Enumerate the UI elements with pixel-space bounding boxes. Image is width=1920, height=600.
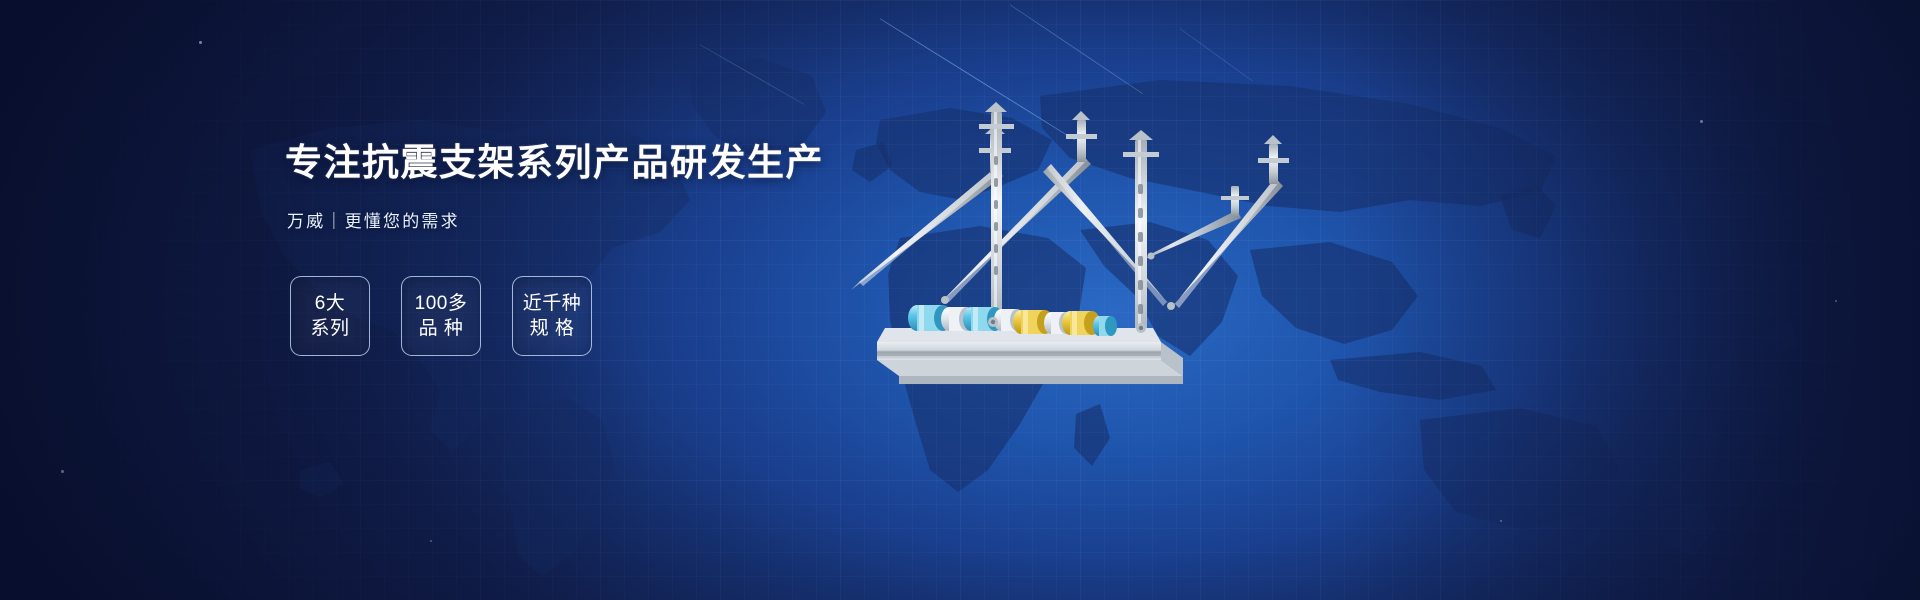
badge-line2: 品 种 xyxy=(419,316,464,341)
banner-copy: 专注抗震支架系列产品研发生产 万威｜更懂您的需求 6大 系列 100多 品 种 … xyxy=(285,140,845,356)
badge-line2: 系列 xyxy=(310,316,349,341)
feature-badge-varieties[interactable]: 100多 品 种 xyxy=(401,276,481,356)
feature-badge-specifications[interactable]: 近千种 规 格 xyxy=(512,276,592,356)
page-title: 专注抗震支架系列产品研发生产 xyxy=(285,140,845,186)
banner-hero: 专注抗震支架系列产品研发生产 万威｜更懂您的需求 6大 系列 100多 品 种 … xyxy=(0,0,1920,600)
feature-badge-series[interactable]: 6大 系列 xyxy=(290,276,370,356)
feature-badges: 6大 系列 100多 品 种 近千种 规 格 xyxy=(290,276,845,356)
product-image-seismic-bracket xyxy=(845,60,1325,410)
banner-subtitle: 万威｜更懂您的需求 xyxy=(287,210,845,234)
badge-line2: 规 格 xyxy=(530,316,575,341)
badge-line1: 近千种 xyxy=(523,291,582,316)
badge-line1: 100多 xyxy=(415,291,468,316)
badge-line1: 6大 xyxy=(315,291,346,316)
